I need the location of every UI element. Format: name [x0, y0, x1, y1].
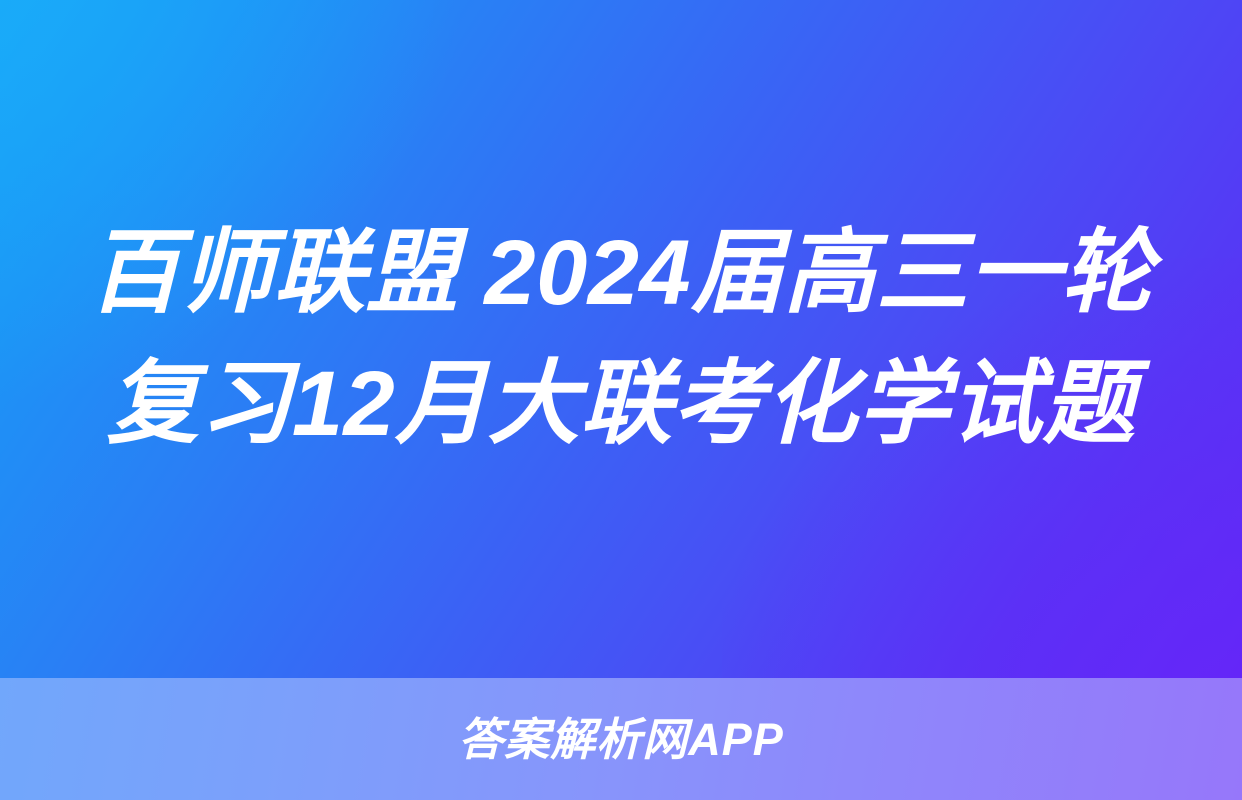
watermark-band: 答案解析网APP	[0, 678, 1242, 800]
exam-paper-cover-card: 百师联盟 2024届高三一轮复习12月大联考化学试题 答案解析网APP	[0, 0, 1242, 800]
app-watermark-label: 答案解析网APP	[458, 717, 784, 762]
hero-gradient-panel: 百师联盟 2024届高三一轮复习12月大联考化学试题	[0, 0, 1242, 678]
page-title: 百师联盟 2024届高三一轮复习12月大联考化学试题	[80, 208, 1162, 469]
